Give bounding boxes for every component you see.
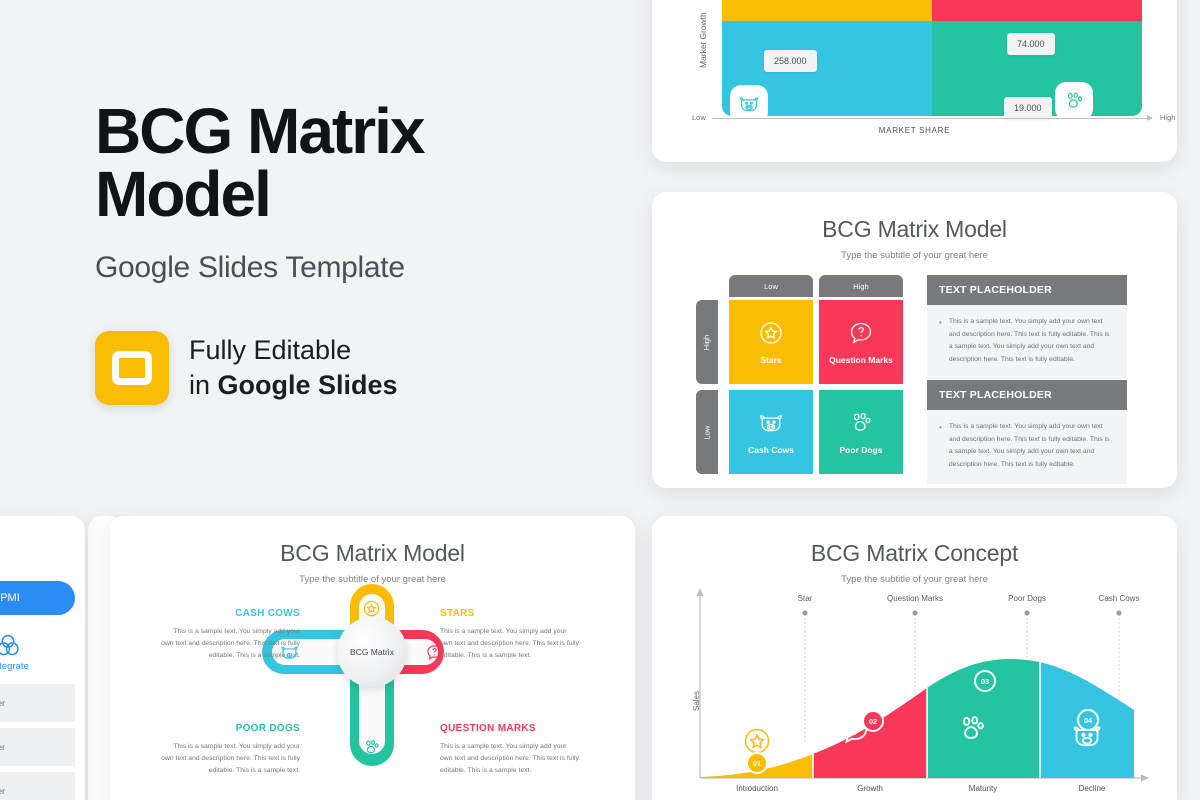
cross-text-stars: STARS This is a sample text. You simply …	[440, 608, 580, 662]
cross-label: POOR DOGS	[160, 723, 300, 734]
star-circle-icon	[758, 320, 784, 346]
cross-label: CASH COWS	[160, 608, 300, 619]
quad-cell-question-marks[interactable]	[932, 0, 1142, 21]
cross-hub[interactable]: BCG Matrix	[337, 617, 407, 687]
quad-cell-stars[interactable]	[722, 0, 932, 21]
cross-diagram: BCG Matrix CASH COWS This is a sample te…	[110, 516, 635, 800]
text-placeholder-body: • This is a sample text. You simply add …	[927, 410, 1127, 484]
panel-cross-diagram[interactable]: BCG Matrix Model Type the subtitle of yo…	[110, 516, 635, 800]
matrix-quadrant-label: Cash Cows	[748, 445, 794, 455]
text-placeholder-header: TEXT PLACEHOLDER	[927, 380, 1127, 410]
panel-concept-chart[interactable]: BCG Matrix Concept Type the subtitle of …	[652, 516, 1177, 800]
matrix-quadrant-label: Poor Dogs	[840, 445, 883, 455]
badge-line-2: in Google Slides	[189, 368, 398, 404]
matrix-quadrant-label: Question Marks	[829, 355, 893, 365]
badge-line-2-prefix: in	[189, 370, 218, 400]
chart-node-03[interactable]: 03	[974, 670, 996, 692]
matrix-quadrant-question-marks[interactable]: Question Marks	[819, 300, 903, 384]
matrix-col-header-low: Low	[729, 275, 813, 297]
quad-x-high-label: High	[1160, 113, 1175, 122]
quad-y-axis-label: Market Growth	[698, 12, 708, 68]
google-slides-icon	[95, 331, 169, 405]
chart-callout-label: Cash Cows	[1099, 594, 1140, 603]
editable-badge-text: Fully Editable in Google Slides	[189, 333, 398, 405]
matrix-col-header-high: High	[819, 275, 903, 297]
text-placeholder-body: • This is a sample text. You simply add …	[927, 305, 1127, 379]
panel-pmi-partial[interactable]: PMI Integrate xt placeholder xt placehol…	[0, 516, 85, 800]
bullet-icon: •	[939, 316, 942, 366]
bullet-icon: •	[939, 421, 942, 471]
matrix-quadrant-label: Stars	[760, 355, 781, 365]
list-item[interactable]: xt placeholder	[0, 772, 75, 800]
chart-xtick-maturity: Maturity	[969, 784, 997, 793]
text-placeholder-block-2[interactable]: TEXT PLACEHOLDER • This is a sample text…	[927, 380, 1127, 484]
chart-xtick-decline: Decline	[1079, 784, 1106, 793]
hero-block: BCG Matrix Model Google Slides Template …	[95, 100, 595, 405]
panel-bcg-matrix[interactable]: BCG Matrix Model Type the subtitle of yo…	[652, 192, 1177, 488]
concept-area-chart: Sales Time	[652, 516, 1177, 800]
cross-label: STARS	[440, 608, 580, 619]
cross-body: This is a sample text. You simply add yo…	[440, 741, 580, 777]
slides-glyph	[112, 351, 152, 385]
chart-callout-label: Poor Dogs	[1008, 594, 1046, 603]
cross-body: This is a sample text. You simply add yo…	[440, 626, 580, 662]
chart-callout-label: Question Marks	[887, 594, 943, 603]
cash-cow-icon	[280, 643, 299, 667]
matrix-row-header-low-text: Low	[702, 425, 711, 439]
chart-svg	[652, 516, 1177, 800]
chart-xtick-introduction: Introduction	[736, 784, 778, 793]
quad-chart: Market Growth 954.000 12.000 74.000 258.…	[652, 0, 1177, 162]
text-placeholder-block-1[interactable]: TEXT PLACEHOLDER • This is a sample text…	[927, 275, 1127, 379]
page-subtitle: Google Slides Template	[95, 251, 595, 285]
chart-node-02[interactable]: 02	[862, 710, 884, 732]
list-item[interactable]: xt placeholder	[0, 684, 75, 722]
badge-line-1: Fully Editable	[189, 333, 398, 369]
list-item[interactable]: xt placeholder	[0, 728, 75, 766]
text-placeholder-paragraph: This is a sample text. You simply add yo…	[949, 316, 1115, 366]
matrix-header: BCG Matrix Model Type the subtitle of yo…	[652, 192, 1177, 261]
cross-text-poor-dogs: POOR DOGS This is a sample text. You sim…	[160, 723, 300, 777]
cross-text-cash-cows: CASH COWS This is a sample text. You sim…	[160, 608, 300, 662]
paw-print-icon	[362, 738, 381, 762]
quad-value-tag: 19.000	[1004, 97, 1052, 119]
quad-x-low-label: Low	[692, 113, 706, 122]
text-placeholder-header: TEXT PLACEHOLDER	[927, 275, 1127, 305]
quad-value-tag: 74.000	[1007, 33, 1055, 55]
star-circle-icon	[744, 728, 770, 754]
cash-cow-icon	[758, 410, 784, 436]
paw-print-icon	[848, 410, 874, 436]
integrate-label: Integrate	[0, 661, 75, 672]
matrix-row-header-low: Low	[696, 390, 718, 474]
editable-badge-row: Fully Editable in Google Slides	[95, 331, 595, 405]
chart-callout-label: Star	[798, 594, 813, 603]
chart-node-04[interactable]: 04	[1077, 709, 1099, 731]
matrix-quadrant-stars[interactable]: Stars	[729, 300, 813, 384]
cross-body: This is a sample text. You simply add yo…	[160, 626, 300, 662]
chart-xtick-growth: Growth	[857, 784, 883, 793]
page-title: BCG Matrix Model	[95, 100, 595, 225]
question-bubble-icon	[425, 643, 444, 667]
quad-x-axis-label: MARKET SHARE	[652, 126, 1177, 135]
matrix-title: BCG Matrix Model	[652, 216, 1177, 243]
matrix-row-header-high-text: High	[703, 334, 712, 349]
question-bubble-icon	[848, 320, 874, 346]
screenshot-stage: BCG Matrix Model Google Slides Template …	[0, 0, 1200, 800]
matrix-quadrant-poor-dogs[interactable]: Poor Dogs	[819, 390, 903, 474]
panel-quad-chart[interactable]: Market Growth 954.000 12.000 74.000 258.…	[652, 0, 1177, 162]
matrix-subtitle: Type the subtitle of your great here	[652, 250, 1177, 261]
matrix-quadrant-cash-cows[interactable]: Cash Cows	[729, 390, 813, 474]
matrix-row-header-high: High	[696, 300, 718, 384]
quad-x-axis	[712, 118, 1152, 119]
cross-text-question-marks: QUESTION MARKS This is a sample text. Yo…	[440, 723, 580, 777]
paw-print-icon	[1055, 82, 1093, 120]
cross-label: QUESTION MARKS	[440, 723, 580, 734]
badge-line-2-strong: Google Slides	[218, 370, 398, 400]
chart-node-01[interactable]: 01	[746, 752, 768, 774]
quad-value-tag: 258.000	[764, 50, 817, 72]
pmi-pill-button[interactable]: PMI	[0, 581, 75, 615]
cross-body: This is a sample text. You simply add yo…	[160, 741, 300, 777]
text-placeholder-paragraph: This is a sample text. You simply add yo…	[949, 421, 1115, 471]
